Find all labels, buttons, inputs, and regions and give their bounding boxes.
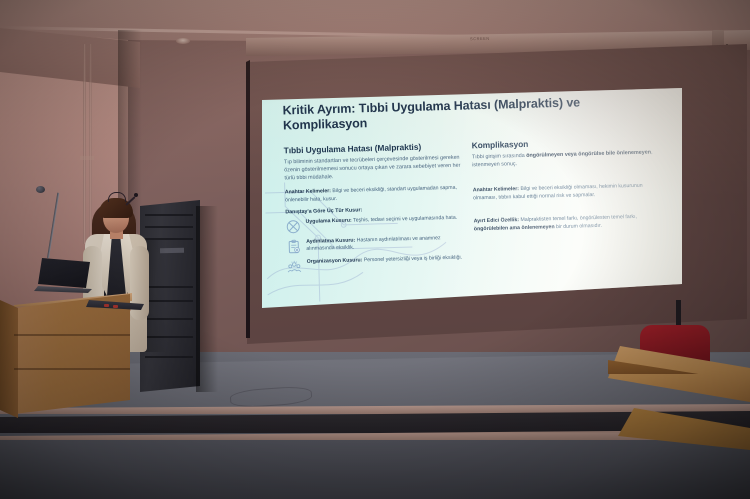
slide-title: Kritik Ayrım: Tıbbi Uygulama Hatası (Mal… [282, 95, 583, 134]
lecture-hall-photo: SCREEN Kritik Ayrım: Tıbbi Uygulama Hata… [0, 0, 750, 499]
left-keywords-label: Anahtar Kelimeler: [285, 188, 331, 195]
slide-left-column: Tıbbi Uygulama Hatası (Malpraktis) Tıp b… [284, 141, 466, 280]
podium-side-panel [0, 300, 18, 418]
distinguishing-label: Ayırt Edici Özellik: [474, 217, 520, 224]
list-item-text: Organizasyon Kusuru: Personel yetersizli… [307, 255, 463, 267]
list-item: Uygulama Kusuru: Teşhis, tedavi seçimi v… [286, 215, 464, 235]
distinguishing-bold: öngörülebilen ama önlenemeyen [474, 224, 555, 232]
recessed-downlight-icon [176, 38, 190, 44]
microphone-icon [36, 186, 45, 193]
screen-brand-label: SCREEN [470, 36, 490, 41]
right-lede-bold: öngörülmeyen veya öngörülse bile önlenem… [526, 150, 651, 159]
list-item: Organizasyon Kusuru: Personel yetersizli… [287, 255, 465, 275]
keypad-button-red-2[interactable] [113, 305, 118, 308]
laptop-screen[interactable] [38, 258, 90, 288]
wall-pipe [83, 44, 86, 244]
left-column-heading: Tıbbi Uygulama Hatası (Malpraktis) [284, 141, 462, 156]
right-lede-pre: Tıbbi girişim sırasında [472, 153, 526, 160]
projected-slide: Kritik Ayrım: Tıbbi Uygulama Hatası (Mal… [262, 88, 682, 308]
headset-microphone-band [108, 192, 126, 202]
list-item-label: Uygulama Kusuru: [306, 218, 352, 225]
list-item-label: Organizasyon Kusuru: [307, 257, 363, 265]
left-list-heading: Danıştay'a Göre Üç Tür Kusur: [285, 205, 463, 216]
left-column-keywords: Anahtar Kelimeler: Bilgi ve beceri eksik… [285, 185, 463, 205]
slide-right-column: Komplikasyon Tıbbi girişim sırasında öng… [471, 135, 664, 238]
list-item: Aydınlatma Kusuru: Hastanın aydınlatılma… [286, 235, 464, 255]
crossed-circle-icon [286, 219, 301, 234]
distinguishing-post: bir durum olmasıdır. [554, 222, 601, 229]
pipe-band [80, 156, 94, 160]
people-group-icon [287, 259, 302, 274]
right-keywords-label: Anahtar Kelimeler: [473, 186, 519, 193]
left-column-lede: Tıp biliminin standartları ve tecrübeler… [284, 154, 463, 183]
right-column-lede: Tıbbi girişim sırasında öngörülmeyen vey… [472, 148, 662, 169]
list-item-desc: Personel yetersizliği veya iş birliği ek… [364, 255, 462, 264]
list-item-label: Aydınlatma Kusuru: [306, 238, 355, 245]
clipboard-icon [286, 239, 301, 254]
rack-shadow [196, 206, 218, 392]
screen-left-edge [246, 48, 250, 338]
lower-floor [0, 440, 750, 499]
headset-microphone-icon [134, 193, 138, 197]
list-item-text: Aydınlatma Kusuru: Hastanın aydınlatılma… [306, 235, 464, 254]
list-item-desc: Teşhis, tedavi seçimi ve uygulamasında h… [353, 215, 457, 224]
keypad-button-red[interactable] [104, 304, 109, 307]
podium [14, 294, 130, 414]
list-item-text: Uygulama Kusuru: Teşhis, tedavi seçimi v… [306, 215, 458, 226]
